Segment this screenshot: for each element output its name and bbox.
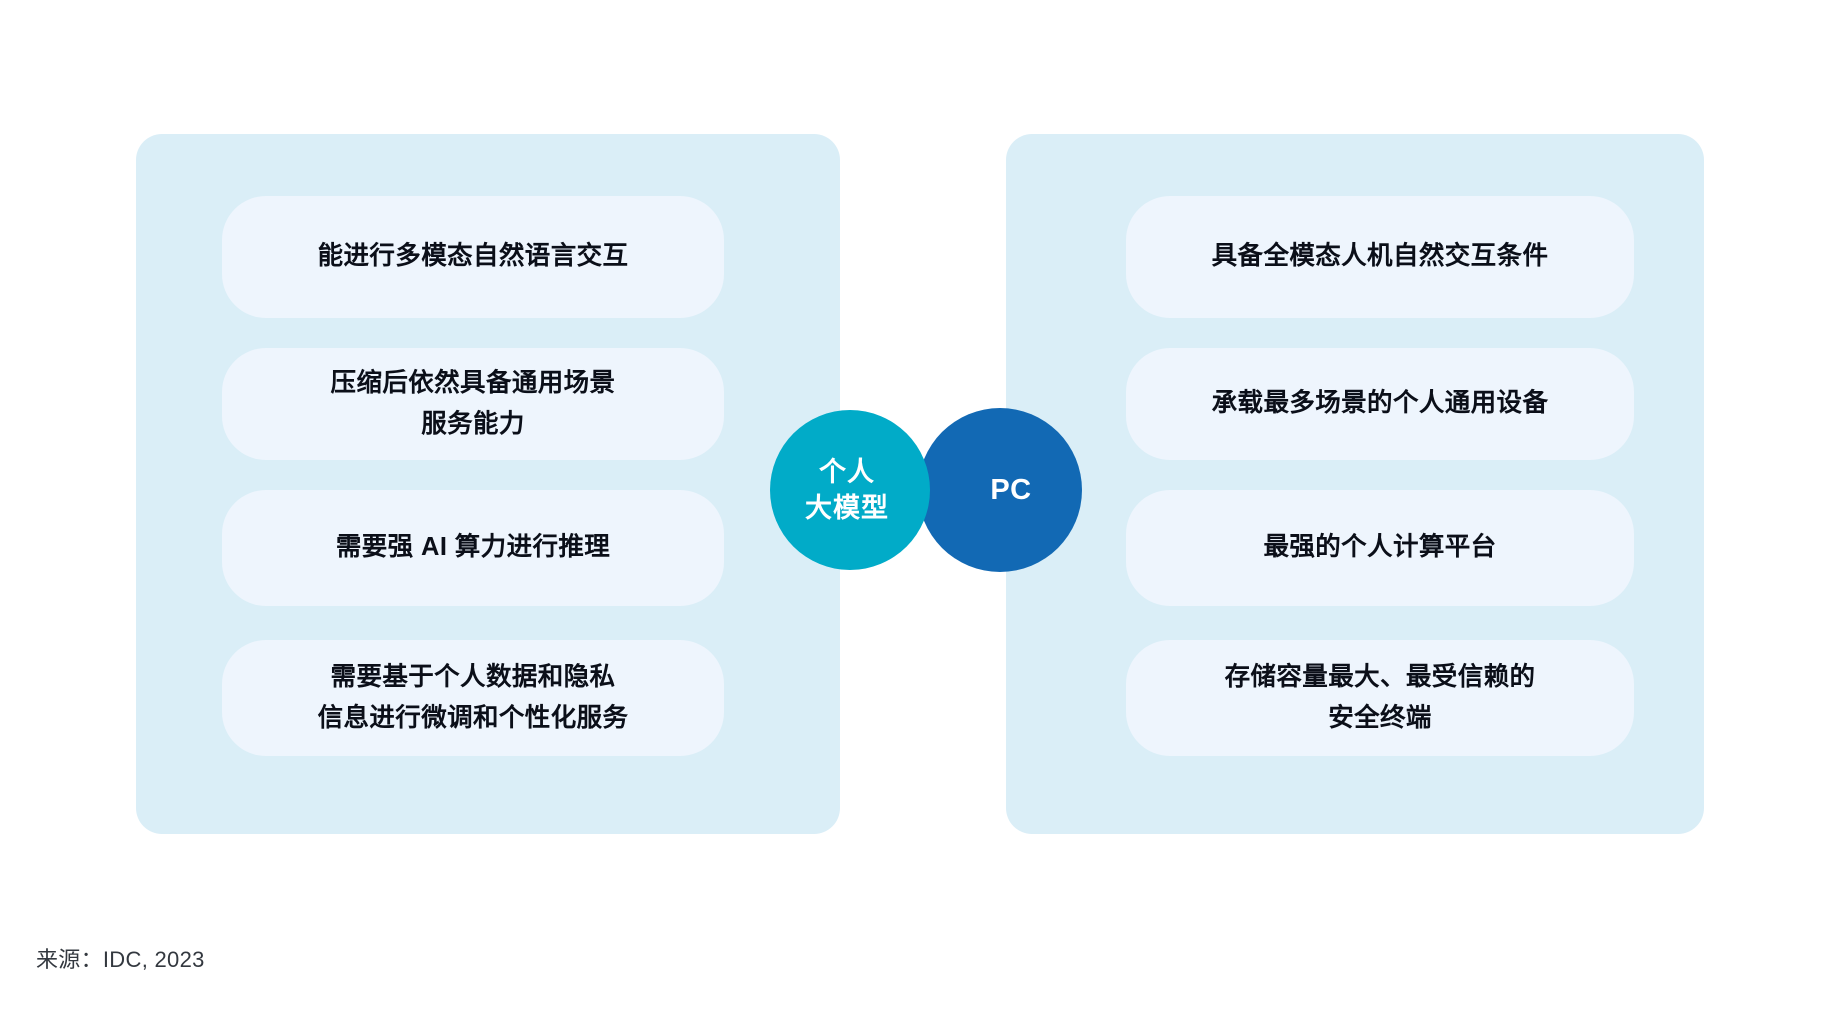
left-card-4: 需要基于个人数据和隐私 信息进行微调和个性化服务	[222, 640, 724, 756]
right-card-2-label: 承载最多场景的个人通用设备	[1212, 383, 1549, 424]
left-card-2: 压缩后依然具备通用场景 服务能力	[222, 348, 724, 460]
diagram-canvas: 能进行多模态自然语言交互 压缩后依然具备通用场景 服务能力 需要强 AI 算力进…	[0, 0, 1834, 1028]
left-card-4-label: 需要基于个人数据和隐私 信息进行微调和个性化服务	[318, 657, 629, 740]
left-card-3-label: 需要强 AI 算力进行推理	[336, 527, 610, 568]
pc-circle: PC	[918, 408, 1082, 572]
personal-large-model-circle-label: 个人 大模型	[805, 454, 889, 527]
right-card-1-label: 具备全模态人机自然交互条件	[1212, 236, 1549, 277]
right-card-4: 存储容量最大、最受信赖的 安全终端	[1126, 640, 1634, 756]
pc-circle-label: PC	[990, 474, 1031, 507]
personal-large-model-circle: 个人 大模型	[770, 410, 930, 570]
left-card-1: 能进行多模态自然语言交互	[222, 196, 724, 318]
right-card-2: 承载最多场景的个人通用设备	[1126, 348, 1634, 460]
source-note: 来源：IDC, 2023	[36, 942, 205, 974]
left-card-3: 需要强 AI 算力进行推理	[222, 490, 724, 606]
right-card-3: 最强的个人计算平台	[1126, 490, 1634, 606]
left-card-2-label: 压缩后依然具备通用场景 服务能力	[331, 363, 616, 446]
left-card-1-label: 能进行多模态自然语言交互	[318, 236, 629, 277]
right-card-1: 具备全模态人机自然交互条件	[1126, 196, 1634, 318]
right-card-4-label: 存储容量最大、最受信赖的 安全终端	[1225, 657, 1536, 740]
right-card-3-label: 最强的个人计算平台	[1263, 527, 1496, 568]
